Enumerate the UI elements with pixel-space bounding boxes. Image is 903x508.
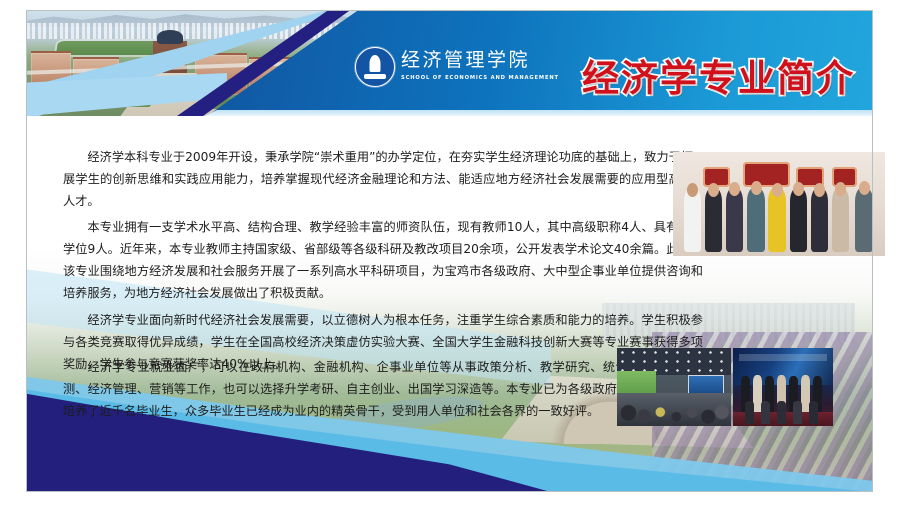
person-head [859, 181, 870, 195]
slide-root: 经济管理学院 SCHOOL OF ECONOMICS AND MANAGEMEN… [0, 0, 903, 508]
school-logo: 经济管理学院 SCHOOL OF ECONOMICS AND MANAGEMEN… [355, 47, 559, 87]
person [832, 187, 849, 251]
paragraph-1: 经济学本科专业于2009年开设，秉承学院“崇术重用”的办学定位，在夯实学生经济理… [63, 146, 693, 212]
projection-screen [688, 375, 724, 394]
paragraph-2: 本专业拥有一支学术水平高、结构合理、教学经验丰富的师资队伍，现有教师10人，其中… [63, 216, 703, 304]
person [855, 187, 872, 251]
person-head [687, 183, 698, 197]
backdrop-sign [743, 162, 790, 187]
person-head [814, 183, 825, 197]
page-title: 经济学专业简介 [582, 48, 855, 102]
person [705, 187, 722, 251]
paragraph-4: 经济学专业就业面广，可以在政府机构、金融机构、企事业单位等从事政策分析、教学研究… [63, 356, 703, 422]
person [811, 187, 828, 251]
event-banner [739, 354, 827, 361]
person [684, 187, 701, 251]
header-banner: 经济管理学院 SCHOOL OF ECONOMICS AND MANAGEMEN… [27, 11, 872, 116]
lecture-hall-photo [617, 348, 731, 426]
award-recipient-front [809, 401, 818, 424]
person-head [708, 183, 719, 197]
faculty-group-photo [673, 152, 885, 256]
award-recipient-front [745, 401, 754, 424]
person [790, 187, 807, 251]
award-recipient-front [777, 401, 786, 424]
award-recipient-front [793, 401, 802, 424]
award-recipient-front [761, 401, 770, 424]
school-name-cn: 经济管理学院 [401, 51, 559, 71]
person [747, 187, 764, 251]
person [768, 187, 785, 251]
school-seal-icon [355, 47, 395, 87]
person [726, 187, 743, 251]
person-head [772, 183, 783, 197]
audience-seating [617, 393, 731, 426]
school-name-en: SCHOOL OF ECONOMICS AND MANAGEMENT [401, 74, 559, 82]
person-head [793, 182, 804, 196]
student-award-ceremony-photo [733, 348, 833, 426]
person-head [751, 181, 762, 195]
school-logo-text: 经济管理学院 SCHOOL OF ECONOMICS AND MANAGEMEN… [401, 51, 559, 82]
